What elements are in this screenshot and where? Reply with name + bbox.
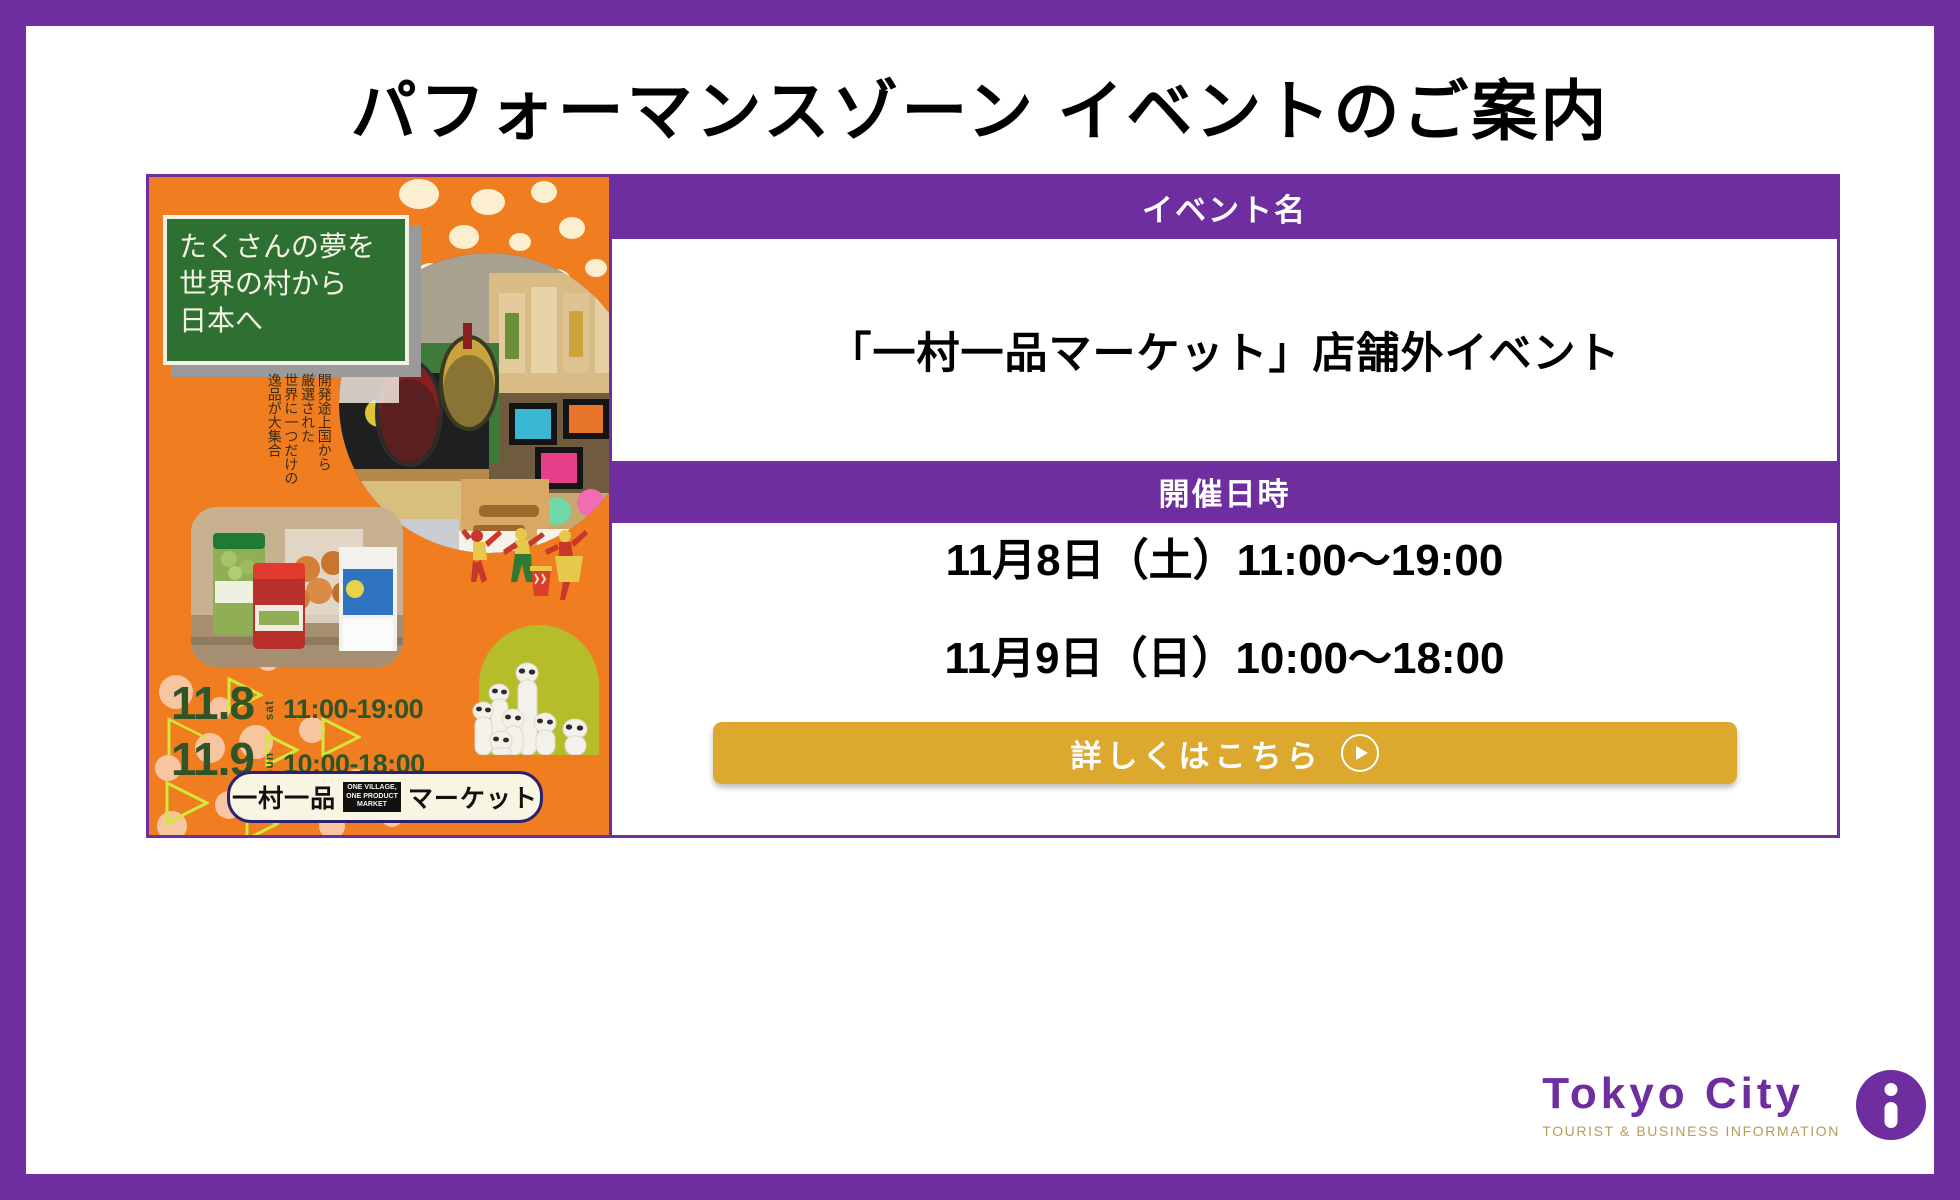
vertical-line-1: 開発途上国から <box>317 373 332 523</box>
event-poster-image: たくさんの夢を 世界の村から 日本へ 開発途上国から 厳選された 世界に一つだけ… <box>146 174 612 838</box>
play-arrow-icon <box>1341 734 1379 772</box>
cta-container: 詳しくはこちら <box>713 722 1737 784</box>
logo-en-badge: ONE VILLAGE, ONE PRODUCT MARKET <box>343 782 401 812</box>
event-name-header: イベント名 <box>612 177 1837 239</box>
vertical-line-4: 逸品が大集合 <box>267 373 282 523</box>
logo-badge-line-1: ONE VILLAGE, <box>346 784 398 793</box>
event-info-panel: イベント名 「一村一品マーケット」店舗外イベント 開催日時 11月8日（土）11… <box>612 174 1840 838</box>
slide-frame: パフォーマンスゾーン イベントのご案内 <box>0 0 1960 1200</box>
poster-date-time: 11:00-19:00 <box>283 696 423 726</box>
logo-wordmark: Tokyo City <box>1542 1072 1840 1116</box>
logo-tagline: TOURIST & BUSINESS INFORMATION <box>1542 1123 1840 1139</box>
details-button-label: 詳しくはこちら <box>1071 731 1323 776</box>
event-name-section: 「一村一品マーケット」店舗外イベント <box>612 239 1837 461</box>
date-line-1: 11月8日（土）11:00〜19:00 <box>946 524 1504 588</box>
meerkat-figurines-photo <box>469 615 609 755</box>
date-header: 開催日時 <box>612 461 1837 523</box>
date-line-2: 11月9日（日）10:00〜18:00 <box>944 622 1504 686</box>
main-content: たくさんの夢を 世界の村から 日本へ 開発途上国から 厳選された 世界に一つだけ… <box>146 174 1840 838</box>
page-title: パフォーマンスゾーン イベントのご案内 <box>26 58 1934 154</box>
poster-date-day: 11.8 <box>171 682 254 726</box>
logo-badge-line-2: ONE PRODUCT <box>346 793 398 802</box>
slide-canvas: パフォーマンスゾーン イベントのご案内 <box>26 26 1934 1174</box>
board-line-2: 世界の村から <box>179 266 395 303</box>
board-line-1: たくさんの夢を <box>179 229 395 266</box>
logo-jp-right: マーケット <box>408 779 538 815</box>
details-button[interactable]: 詳しくはこちら <box>713 722 1737 784</box>
vertical-line-2: 厳選された <box>300 373 315 523</box>
poster-date-dow: sat <box>262 700 276 720</box>
food-products-photo <box>191 507 403 667</box>
dancers-illustration <box>459 522 599 602</box>
poster-vertical-copy: 開発途上国から 厳選された 世界に一つだけの 逸品が大集合 <box>267 373 332 523</box>
board-line-3: 日本へ <box>179 303 395 340</box>
info-circle-icon <box>1856 1070 1926 1140</box>
poster-date-row: 11.8 sat 11:00-19:00 <box>171 682 425 726</box>
ippin-market-logo: 一村一品 ONE VILLAGE, ONE PRODUCT MARKET マーケ… <box>227 771 543 823</box>
logo-text-block: Tokyo City TOURIST & BUSINESS INFORMATIO… <box>1542 1072 1840 1139</box>
poster-headline-board: たくさんの夢を 世界の村から 日本へ <box>163 215 409 365</box>
vertical-line-3: 世界に一つだけの <box>284 373 299 523</box>
logo-badge-line-3: MARKET <box>346 801 398 810</box>
event-name-value: 「一村一品マーケット」店舗外イベント <box>829 319 1621 381</box>
logo-jp-left: 一村一品 <box>232 779 336 815</box>
date-section: 11月8日（土）11:00〜19:00 11月9日（日）10:00〜18:00 … <box>612 523 1837 785</box>
tokyo-city-logo: Tokyo City TOURIST & BUSINESS INFORMATIO… <box>1542 1070 1926 1140</box>
